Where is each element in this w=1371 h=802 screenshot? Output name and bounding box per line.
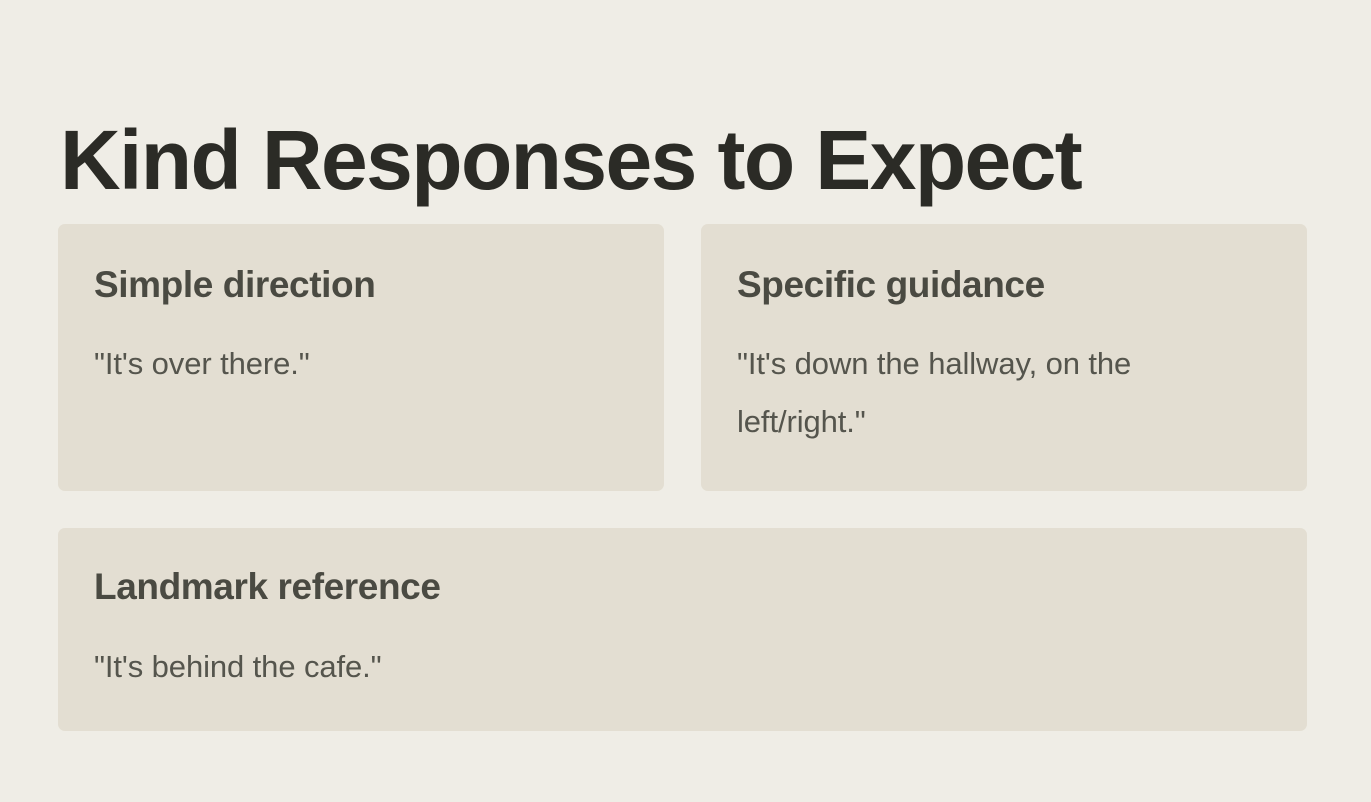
card-heading: Simple direction [94,264,628,305]
slide-root: Kind Responses to Expect Simple directio… [0,0,1371,802]
card-quote: "It's over there." [94,335,564,393]
response-card-specific-guidance: Specific guidance "It's down the hallway… [701,224,1307,491]
response-card-landmark-reference: Landmark reference "It's behind the cafe… [58,528,1307,731]
card-quote: "It's behind the cafe." [94,638,1271,696]
response-card-grid: Simple direction "It's over there." Spec… [58,224,1307,731]
page-title: Kind Responses to Expect [60,118,1081,202]
card-heading: Specific guidance [737,264,1271,305]
response-card-simple-direction: Simple direction "It's over there." [58,224,664,491]
card-quote: "It's down the hallway, on the left/righ… [737,335,1207,451]
card-heading: Landmark reference [94,566,1271,607]
